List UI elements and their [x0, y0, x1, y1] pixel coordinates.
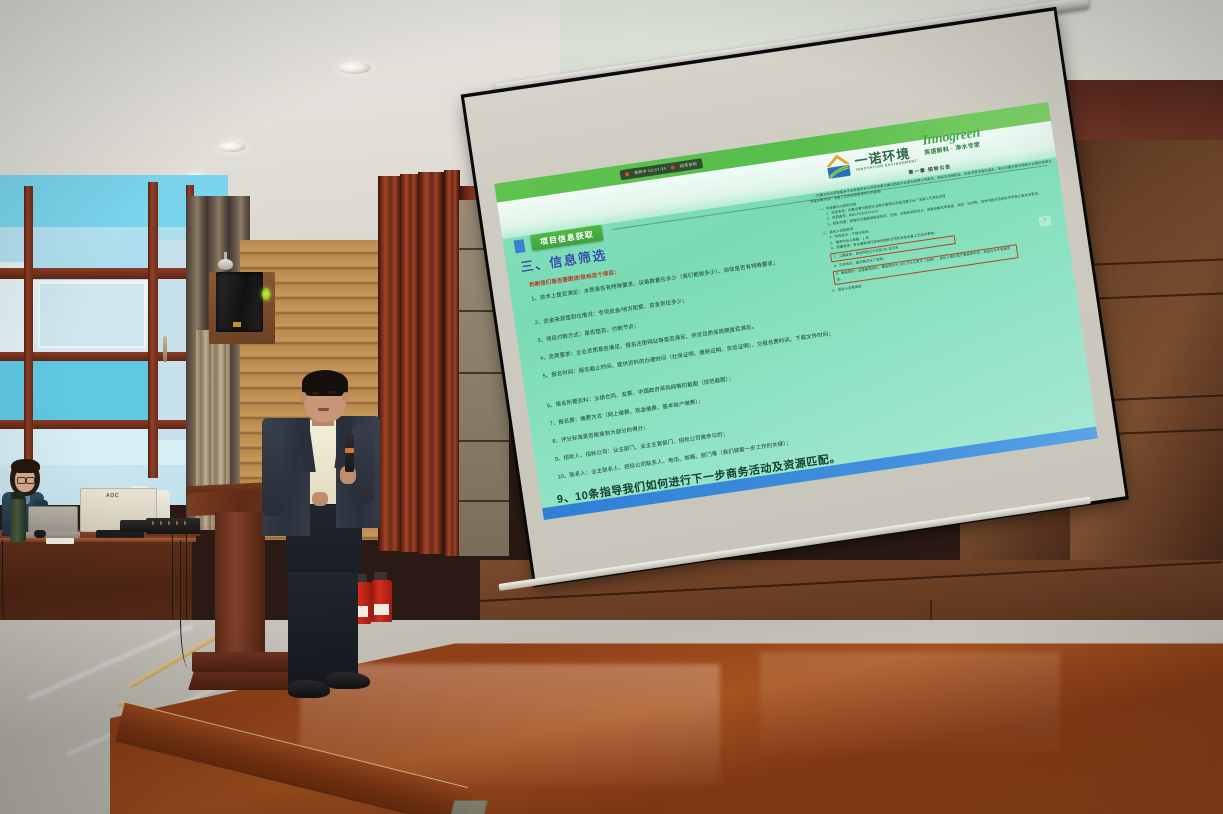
operator-fringe [11, 459, 40, 473]
stop-record-icon[interactable] [671, 165, 676, 170]
fire-extinguisher [371, 580, 392, 622]
mixer-secondary[interactable] [120, 520, 150, 532]
mountain-wave-logo-icon [824, 152, 853, 180]
presenter-leg [288, 560, 322, 688]
window-mullion [148, 182, 158, 478]
stage-reflection [760, 652, 1060, 752]
slideshow-next-control[interactable]: › [1038, 215, 1051, 227]
window-handle[interactable] [163, 336, 167, 362]
presenter-leg [322, 558, 358, 684]
mixer-knob[interactable] [152, 521, 154, 525]
wood-column [444, 170, 460, 556]
presenter-arm-right [352, 424, 374, 504]
downlight-icon [218, 142, 246, 152]
presenter-ear [342, 392, 349, 403]
operator-glasses-icon [26, 477, 35, 484]
presenter-eye [312, 392, 319, 395]
speaker-power-led-icon [262, 288, 270, 300]
window-mullion [24, 186, 33, 476]
mixer-knob[interactable] [184, 521, 186, 525]
flask-cap [11, 492, 25, 499]
wood-column [378, 176, 402, 551]
stop-record-label[interactable]: 结束录制 [679, 161, 697, 169]
speaker-badge-icon [233, 322, 241, 327]
wood-column [418, 172, 444, 554]
presenter-shoe [326, 672, 370, 689]
lectern-base-plinth [192, 652, 298, 672]
presenter-hair [302, 370, 348, 396]
cable [2, 540, 17, 630]
paper-note [46, 538, 74, 544]
monitor-brand-label: AOC [106, 493, 119, 499]
presenter-arm-left [262, 428, 284, 516]
window-inner-frame [38, 282, 146, 348]
projection-screen-assembly: 一诺环境 INNOVATION ENVIRONMENT Innogreen 英诺… [497, 40, 1097, 610]
mixer-knob[interactable] [160, 521, 162, 525]
downlight-icon [338, 62, 371, 74]
microphone[interactable] [345, 434, 354, 472]
mixer-knob[interactable] [176, 521, 178, 525]
record-indicator-icon [625, 172, 630, 177]
mouse[interactable] [34, 530, 46, 538]
floor-outlet-plate [450, 800, 488, 814]
presenter-hand-left [312, 492, 328, 506]
audio-mixer[interactable] [146, 518, 200, 534]
presenter-mouth [318, 408, 329, 411]
document-column: 第一章 招标公告 内蒙古阳光采购服务平台有限责任公司受内蒙古黄河西部水业股份有限… [808, 148, 1093, 463]
badge-accent-bar [514, 239, 526, 253]
wood-column [400, 174, 420, 552]
presenter-eye [329, 391, 336, 394]
presenter-shoe [288, 680, 330, 698]
slide-bullet: 2、资金来源是到位情况：专项资金/地方配套、资金到位多少； [534, 296, 688, 326]
presenter-ear [300, 392, 307, 403]
extinguisher-label [374, 604, 389, 615]
dome-camera-icon [218, 259, 233, 270]
screenshot-root: 一诺环境 INNOVATION ENVIRONMENT Innogreen 英诺… [0, 0, 1223, 814]
microphone-indicator-icon [345, 448, 354, 453]
mixer-knob[interactable] [168, 521, 170, 525]
lectern-cable [180, 540, 201, 668]
vacuum-flask [10, 496, 26, 542]
slide-bullet: 6、报名所需资料：业绩合同、发票、中国政府采购网等的截图（规范截图）； [547, 374, 735, 410]
operator-glasses-icon [17, 477, 26, 484]
slide-bullet: 8、评分标准是否能拿到大部分的得分； [552, 423, 649, 445]
